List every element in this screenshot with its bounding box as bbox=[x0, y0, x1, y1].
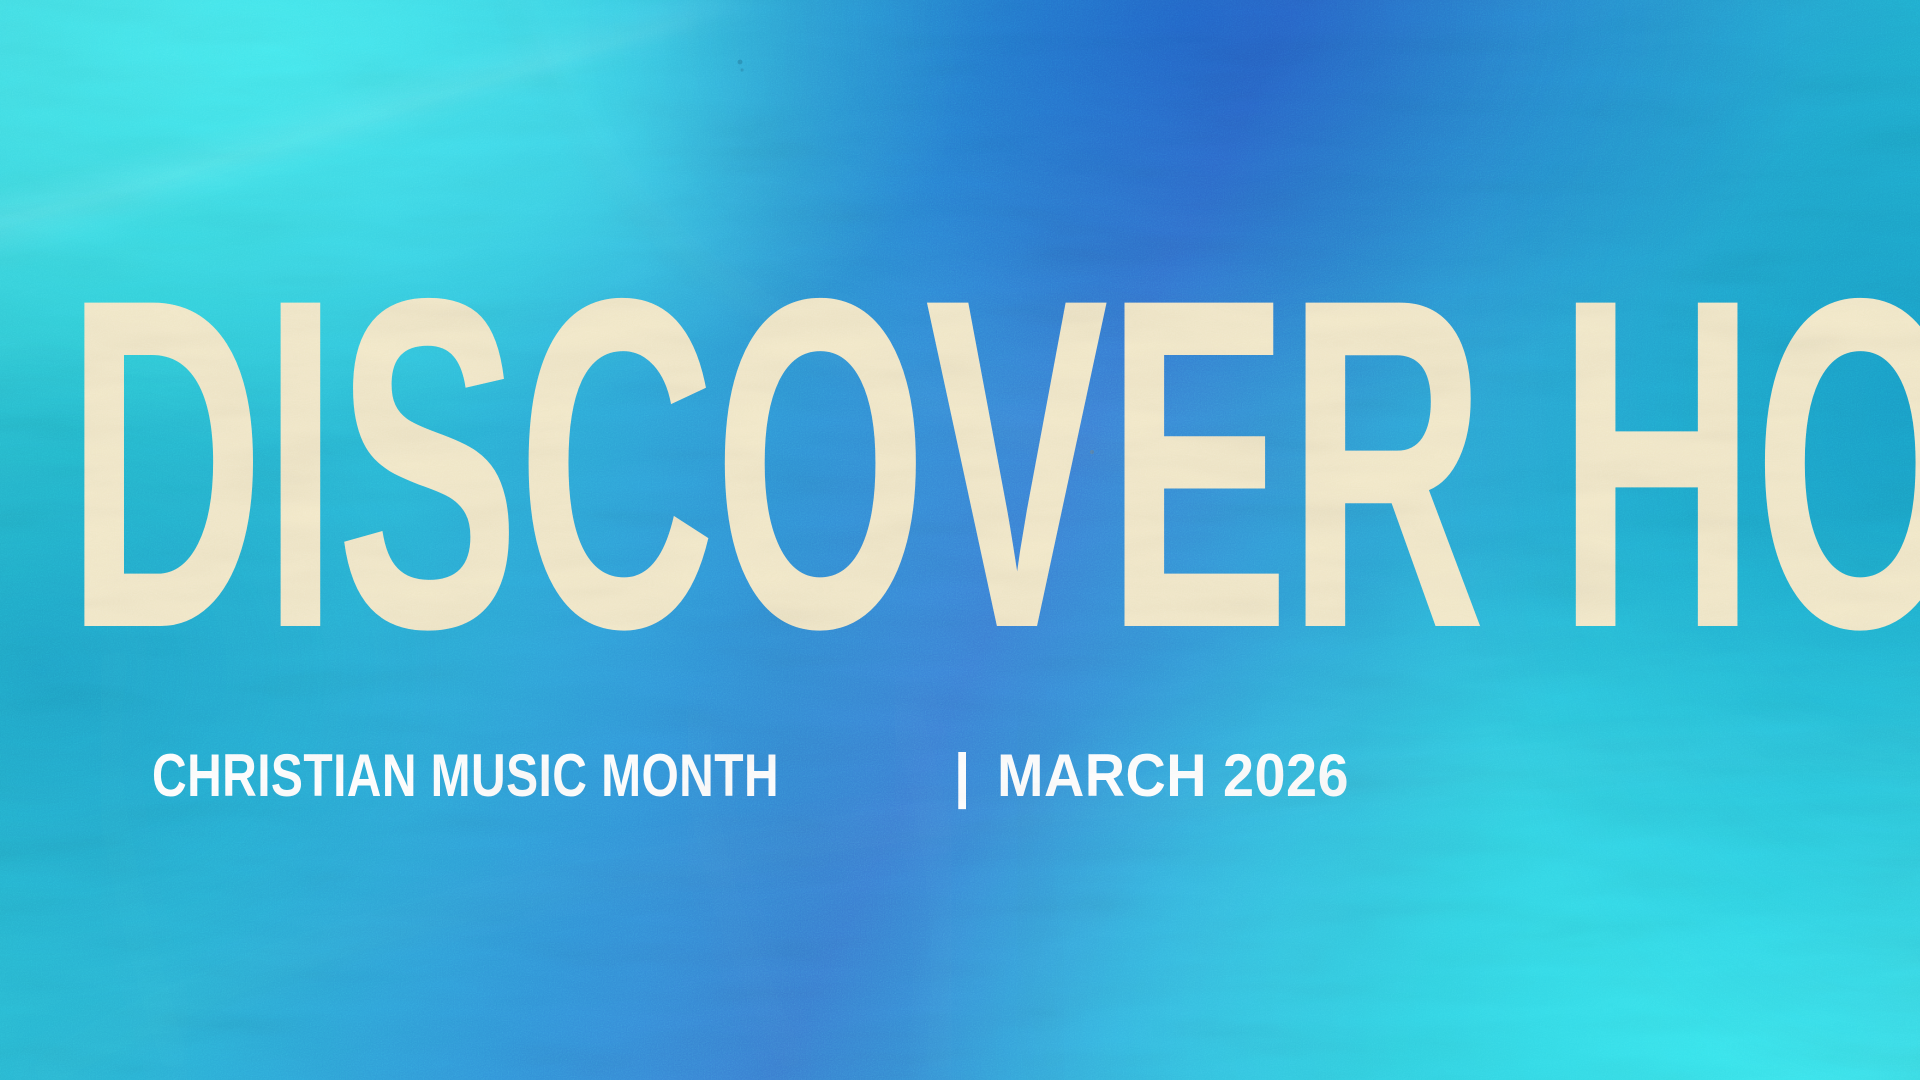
subtitle-event: CHRISTIAN MUSIC MONTH bbox=[152, 744, 779, 808]
subtitle-separator: | bbox=[936, 744, 997, 808]
page-title: DISCOVER HOPE bbox=[66, 238, 1865, 690]
subtitle-date: MARCH 2026 bbox=[997, 744, 1349, 808]
subtitle: CHRISTIAN MUSIC MONTH | MARCH 2026 bbox=[152, 744, 1376, 808]
typography-layer: DISCOVER HOPE CHRISTIAN MUSIC MONTH | MA… bbox=[0, 0, 1920, 1080]
poster-canvas: DISCOVER HOPE CHRISTIAN MUSIC MONTH | MA… bbox=[0, 0, 1920, 1080]
